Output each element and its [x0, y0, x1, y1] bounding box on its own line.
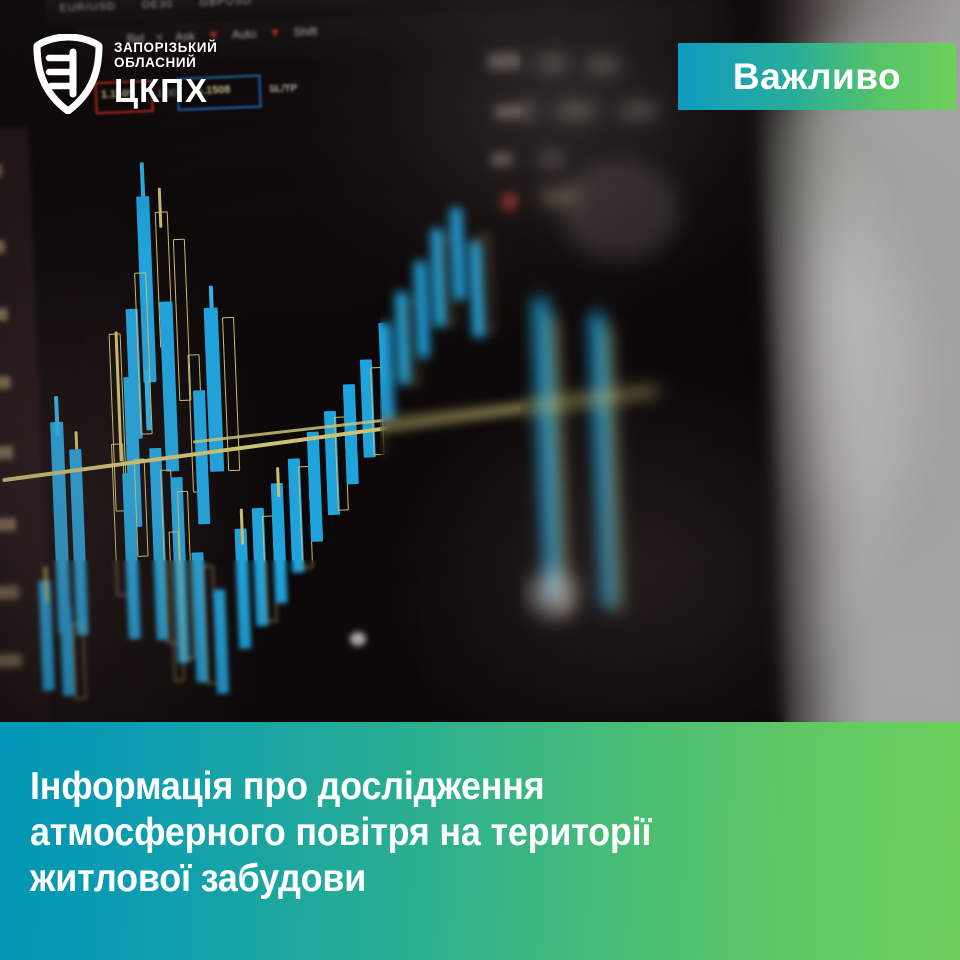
- bottom-banner: Інформація про дослідження атмосферного …: [0, 722, 960, 960]
- candle-body: [50, 422, 71, 634]
- logo-text-block: ЗАПОРІЗЬКИЙ ОБЛАСНИЙ ЦКПХ: [114, 40, 217, 109]
- candle-body: [450, 208, 466, 300]
- banner-title: Інформація про дослідження атмосферного …: [30, 764, 794, 902]
- candle-wick: [276, 467, 280, 497]
- informational-card: EUR/USD DE30 GBPUSD Bid ˅ Ask ▼ Auto ▼ S…: [0, 0, 960, 960]
- logo-line-2: ОБЛАСНИЙ: [114, 55, 217, 70]
- candle-body: [69, 449, 88, 635]
- shield-icon: [32, 34, 104, 114]
- candle-wick: [240, 509, 244, 545]
- logo-line-1: ЗАПОРІЗЬКИЙ: [114, 40, 217, 55]
- candle-wick: [54, 396, 60, 436]
- candle-body: [414, 261, 430, 357]
- candle-wick: [158, 188, 163, 228]
- organization-logo: ЗАПОРІЗЬКИЙ ОБЛАСНИЙ ЦКПХ: [32, 34, 217, 114]
- logo-abbreviation: ЦКПХ: [114, 73, 217, 109]
- important-badge: Важливо: [678, 43, 956, 110]
- candle-body: [235, 528, 252, 648]
- trendline-secondary: [193, 387, 660, 443]
- important-badge-label: Важливо: [733, 58, 901, 95]
- candle-body: [378, 323, 394, 419]
